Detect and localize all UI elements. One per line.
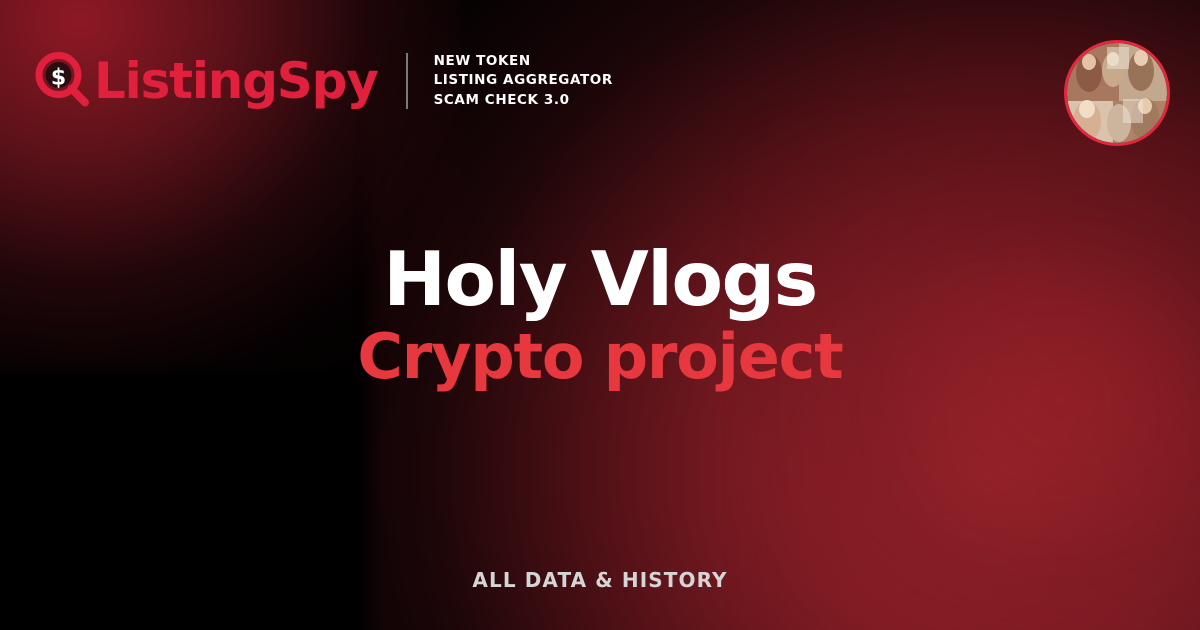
brand-divider <box>406 53 408 109</box>
footer-text: ALL DATA & HISTORY <box>472 568 727 592</box>
footer: ALL DATA & HISTORY <box>0 568 1200 592</box>
tagline-line-2: LISTING AGGREGATOR <box>434 72 613 89</box>
header: $ ListingSpy NEW TOKEN LISTING AGGREGATO… <box>0 0 1200 175</box>
magnifier-dollar-icon: $ <box>34 52 92 110</box>
tagline-line-3: SCAM CHECK 3.0 <box>434 92 613 109</box>
project-title: Holy Vlogs <box>343 240 857 318</box>
brand-tagline: NEW TOKEN LISTING AGGREGATOR SCAM CHECK … <box>434 53 613 109</box>
project-subtitle: Crypto project <box>317 324 882 391</box>
brand-wordmark: ListingSpy <box>94 56 378 106</box>
avatar <box>1064 40 1170 146</box>
share-card: $ ListingSpy NEW TOKEN LISTING AGGREGATO… <box>0 0 1200 630</box>
svg-text:$: $ <box>51 66 66 91</box>
brand-lockup: $ ListingSpy NEW TOKEN LISTING AGGREGATO… <box>34 52 613 110</box>
tagline-line-1: NEW TOKEN <box>434 53 613 70</box>
avatar-photo <box>1067 43 1167 143</box>
